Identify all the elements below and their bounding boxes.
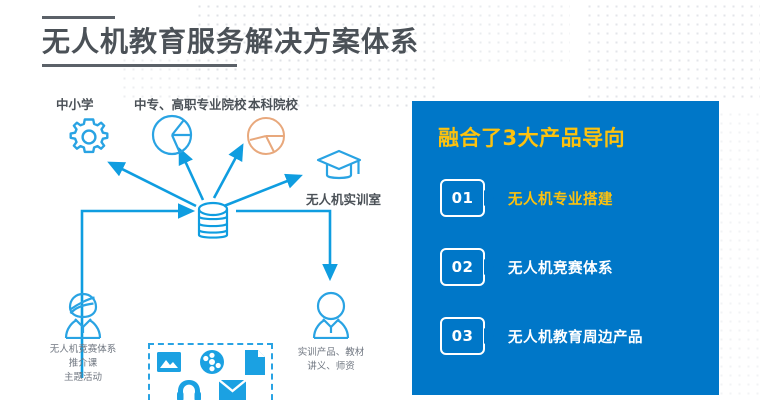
left-person-caption-line: 无人机竞赛体系 — [22, 343, 144, 357]
page-title: 无人机教育服务解决方案体系 — [42, 26, 419, 58]
panel-item-number-03: 03 — [440, 317, 485, 355]
dot-pattern-decoration — [440, 2, 570, 62]
center-group-icons — [155, 350, 267, 400]
dot-pattern-decoration — [585, 2, 760, 102]
panel-item-notch — [484, 328, 494, 344]
panel-item-label-03: 无人机教育周边产品 — [508, 317, 643, 355]
panel-item-number-02: 02 — [440, 248, 485, 286]
title-rule-bottom — [42, 64, 237, 67]
panel-item-notch — [484, 190, 494, 206]
graduation-cap-icon — [315, 146, 363, 186]
gear-icon — [66, 114, 112, 160]
envelope-icon — [219, 380, 246, 400]
database-icon — [196, 200, 230, 244]
pie-chart-icon — [149, 112, 195, 158]
node-label-primary-secondary-school: 中小学 — [56, 94, 94, 113]
panel-item-notch — [484, 259, 494, 275]
image-icon — [157, 350, 181, 374]
panel-item-number-01: 01 — [440, 179, 485, 217]
slide-canvas: 无人机教育服务解决方案体系 — [0, 0, 760, 400]
solution-diagram: 中小学 中专、高职专业院校 本科院校 — [0, 88, 410, 400]
document-icon — [245, 350, 265, 375]
pie-chart-orange-icon — [244, 114, 288, 158]
node-label-vocational-college: 中专、高职专业院校 — [134, 94, 247, 113]
left-person-caption: 无人机竞赛体系 推介课 主题活动 — [22, 343, 144, 384]
right-person-caption-line: 讲义、师资 — [272, 360, 390, 374]
person-helmet-icon — [60, 291, 106, 339]
panel-item-label-01: 无人机专业搭建 — [508, 179, 613, 217]
header: 无人机教育服务解决方案体系 — [42, 16, 419, 67]
headphones-icon — [177, 380, 201, 400]
title-rule-top — [42, 16, 115, 19]
right-person-caption: 实训产品、教材 讲义、师资 — [272, 346, 390, 374]
left-person-caption-line: 主题活动 — [22, 371, 144, 385]
right-person-caption-line: 实训产品、教材 — [272, 346, 390, 360]
product-orientation-panel: 融合了3大产品导向 01 无人机专业搭建 02 无人机竞赛体系 03 无人机教育… — [412, 101, 719, 395]
panel-item-label-02: 无人机竞赛体系 — [508, 248, 613, 286]
node-label-undergraduate-college: 本科院校 — [248, 94, 298, 113]
panel-title: 融合了3大产品导向 — [438, 122, 625, 152]
node-label-uav-training-lab: 无人机实训室 — [306, 189, 381, 208]
left-person-caption-line: 推介课 — [22, 357, 144, 371]
film-reel-icon — [199, 349, 225, 375]
person-icon — [308, 291, 354, 339]
